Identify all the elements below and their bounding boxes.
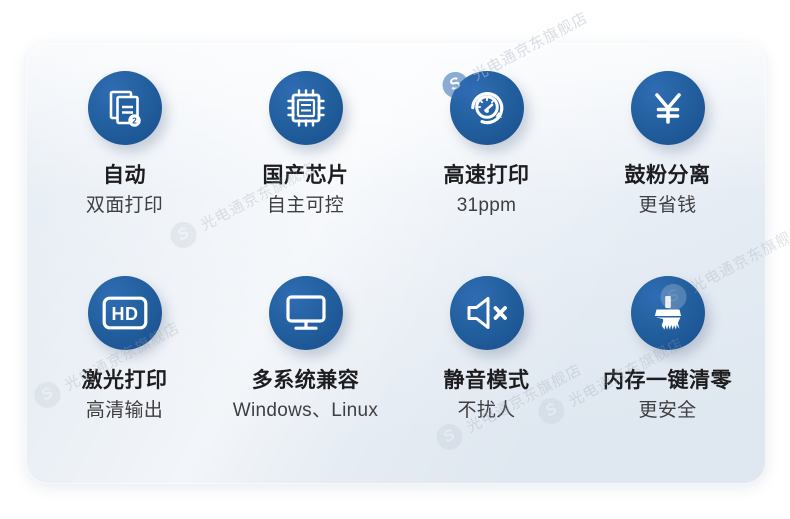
- hd-badge-icon: HD: [88, 276, 162, 350]
- feature-title: 静音模式: [444, 369, 530, 392]
- feature-title: 高速打印: [444, 164, 530, 187]
- feature-item-toner[interactable]: 鼓粉分离 更省钱: [577, 61, 758, 266]
- monitor-icon: [269, 276, 343, 350]
- feature-grid: 2 自动 双面打印: [26, 43, 766, 484]
- yuan-currency-icon: [631, 71, 705, 145]
- duplex-pages-icon: 2: [88, 71, 162, 145]
- feature-item-duplex[interactable]: 2 自动 双面打印: [34, 61, 215, 266]
- feature-title: 自动: [103, 164, 146, 187]
- speaker-mute-icon: [450, 276, 524, 350]
- broom-clean-icon: [631, 276, 705, 350]
- feature-item-quiet[interactable]: 静音模式 不扰人: [396, 266, 577, 471]
- feature-item-laser[interactable]: HD 激光打印 高清输出: [34, 266, 215, 471]
- feature-title: 多系统兼容: [252, 369, 360, 392]
- feature-title: 内存一键清零: [603, 369, 732, 392]
- svg-text:2: 2: [132, 116, 137, 125]
- feature-subtitle: 自主可控: [267, 196, 344, 217]
- feature-item-memory-clear[interactable]: 内存一键清零 更安全: [577, 266, 758, 471]
- feature-card: 2 自动 双面打印: [26, 43, 766, 484]
- svg-text:HD: HD: [111, 304, 138, 324]
- feature-title: 激光打印: [82, 369, 168, 392]
- feature-subtitle: 更安全: [639, 401, 697, 422]
- feature-item-os[interactable]: 多系统兼容 Windows、Linux: [215, 266, 396, 471]
- speed-gauge-icon: [450, 71, 524, 145]
- feature-subtitle: 双面打印: [86, 196, 163, 217]
- feature-subtitle: 31ppm: [457, 196, 517, 217]
- feature-item-chip[interactable]: 国产芯片 自主可控: [215, 61, 396, 266]
- feature-subtitle: 高清输出: [86, 401, 163, 422]
- cpu-chip-icon: [269, 71, 343, 145]
- feature-subtitle: Windows、Linux: [233, 401, 378, 422]
- feature-subtitle: 不扰人: [458, 401, 516, 422]
- feature-subtitle: 更省钱: [639, 196, 697, 217]
- feature-title: 国产芯片: [263, 164, 349, 187]
- feature-title: 鼓粉分离: [625, 164, 711, 187]
- feature-item-speed[interactable]: 高速打印 31ppm: [396, 61, 577, 266]
